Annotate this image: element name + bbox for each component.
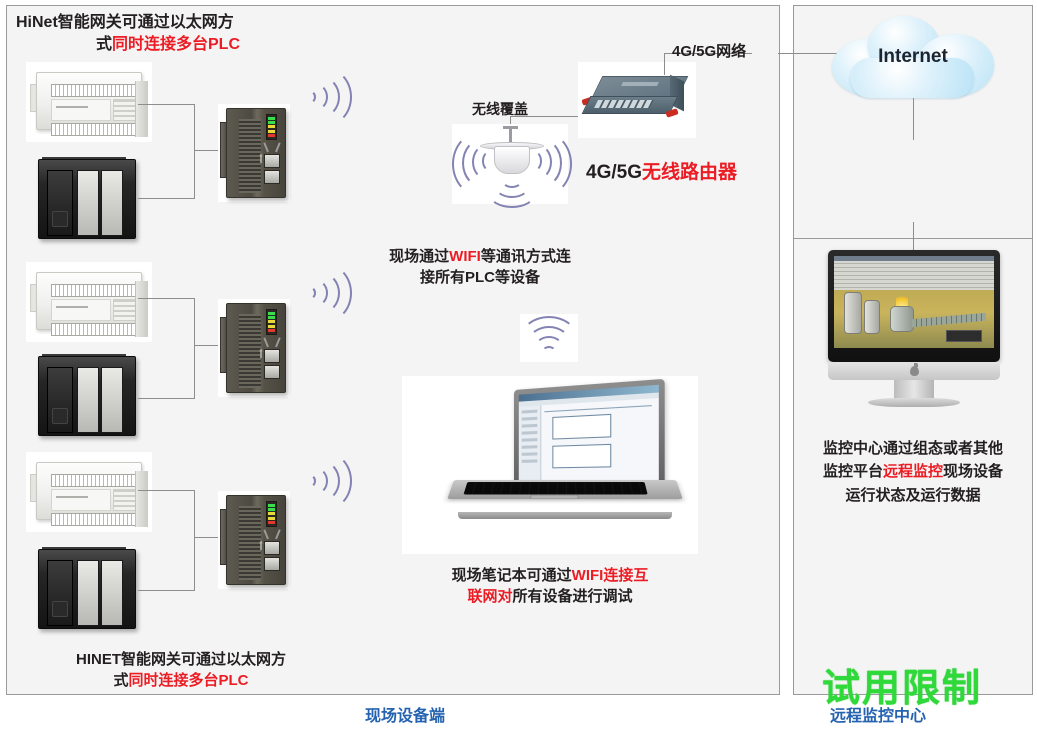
gateway-status-leds: [266, 501, 277, 527]
plc-top-terminal-block: [51, 84, 139, 97]
wire-bus-3: [194, 490, 195, 591]
plc-white-3: [30, 454, 146, 526]
plc-io-card: [101, 560, 123, 626]
plc-status-leds: [113, 99, 137, 121]
wire-plc-black-1: [138, 198, 194, 199]
plc-black-2: [34, 352, 138, 438]
diagram-canvas: HiNet智能网关可通过以太网方 式同时连接多台PLC: [0, 0, 1037, 731]
access-point: [452, 124, 568, 204]
gateway-shell: [226, 495, 286, 585]
remote-note-line2-suffix: 现场设备: [943, 463, 1003, 480]
scada-tank: [864, 300, 880, 334]
monitor-bezel: [828, 250, 1000, 362]
plc-label-area: [51, 489, 111, 511]
gateway-status-leds: [266, 309, 277, 335]
internet-cloud: Internet: [824, 12, 1002, 100]
plc-io-card: [77, 560, 99, 626]
caption-bottom-line1: HINET智能网关可通过以太网方: [76, 651, 286, 668]
monitor-screen: [834, 256, 994, 348]
caption-bottom-gateway: HINET智能网关可通过以太网方 式同时连接多台PLC: [16, 650, 346, 691]
laptop-note-red-2: 联网对: [467, 588, 512, 605]
wire-plc-black-2: [138, 398, 194, 399]
wire-bus-2: [194, 298, 195, 399]
monitor-neck: [894, 380, 934, 400]
ap-signal-arc-down: [488, 178, 536, 208]
gateway-ethernet-port-1: [264, 349, 280, 363]
scada-tank: [844, 292, 862, 334]
wifi-note-line2: 接所有PLC等设备: [420, 269, 540, 286]
wire-plc-white-1: [138, 104, 194, 105]
leader-ap-to-router: [510, 116, 582, 117]
laptop-note-suffix: 所有设备进行调试: [513, 588, 633, 605]
laptop-note-red-1: WIFI连接互: [572, 567, 649, 584]
gateway-vents: [239, 314, 261, 388]
plc-io-card: [77, 170, 99, 236]
caption-laptop-debug: 现场笔记本可通过WIFI连接互 联网对所有设备进行调试: [400, 566, 700, 607]
wire-plc-black-3: [138, 590, 194, 591]
gateway-ethernet-port-2: [264, 557, 280, 571]
plc-top-terminal-block: [51, 474, 139, 487]
gateway-shell: [226, 303, 286, 393]
laptop-app-sidebar: [519, 405, 542, 487]
wire-bus-1: [194, 104, 195, 199]
laptop-front-edge: [458, 512, 672, 519]
remote-note-line3: 运行状态及运行数据: [845, 487, 980, 504]
router-ethernet-ports: [594, 100, 654, 108]
gateway-ethernet-port-2: [264, 365, 280, 379]
plc-bottom-terminal-block: [51, 323, 139, 336]
scada-readout-box: [946, 330, 982, 342]
plc-bottom-terminal-block: [51, 513, 139, 526]
laptop-screen: [519, 385, 659, 487]
plc-bottom-terminal-block: [51, 123, 139, 136]
laptop-note-prefix: 现场笔记本可通过: [452, 567, 572, 584]
plc-io-card: [101, 367, 123, 433]
plc-cpu-module: [47, 367, 73, 433]
ladder-rung: [552, 444, 611, 469]
router-brand-label: [621, 82, 659, 86]
gateway-ethernet-port-1: [264, 154, 280, 168]
plc-cpu-module: [47, 560, 73, 626]
laptop-lid: [514, 379, 665, 492]
remote-note-line1: 监控中心通过组态或者其他: [823, 440, 1003, 457]
caption-top-line2-red: 同时连接多台PLC: [112, 36, 240, 53]
scada-table-area: [834, 256, 994, 290]
gateway-vents: [239, 119, 261, 193]
zone-label-field: 现场设备端: [365, 702, 445, 726]
wire-plc-white-2: [138, 298, 194, 299]
link-divider-to-monitor: [913, 222, 914, 252]
plc-body: [36, 272, 142, 330]
caption-remote-monitoring: 监控中心通过组态或者其他 监控平台远程监控现场设备 运行状态及运行数据: [798, 437, 1028, 507]
ladder-rung: [552, 414, 611, 440]
gateway-status-leds: [266, 114, 277, 140]
gateway-vents: [239, 506, 261, 580]
caption-top-gateway: HiNet智能网关可通过以太网方 式同时连接多台PLC: [16, 12, 346, 56]
label-internet: Internet: [824, 46, 1002, 68]
plc-label-area: [51, 299, 111, 321]
scada-vessel: [890, 306, 914, 332]
wifi-note-red: WIFI: [449, 248, 481, 265]
monitor-imac: [828, 250, 1000, 410]
caption-wifi-connection: 现场通过WIFI等通讯方式连 接所有PLC等设备: [355, 247, 605, 288]
apple-logo-icon: [910, 366, 919, 376]
gateway-3: [218, 491, 290, 587]
plc-body: [38, 356, 136, 436]
plc-side-cover: [135, 81, 148, 137]
laptop-keyboard: [464, 482, 648, 494]
wifi-signal-icon-1: [300, 66, 348, 128]
gateway-antenna-icon: [264, 337, 280, 347]
plc-label-area: [51, 99, 111, 121]
caption-top-line2-prefix: 式: [96, 36, 112, 53]
gateway-antenna-icon: [264, 529, 280, 539]
label-router-red: 无线路由器: [642, 162, 737, 183]
plc-body: [38, 159, 136, 239]
wireless-router: [578, 62, 696, 138]
plc-io-card: [101, 170, 123, 236]
laptop-base: [447, 480, 683, 499]
gateway-2: [218, 299, 290, 395]
gateway-ethernet-port-1: [264, 541, 280, 555]
leader-router-vertical: [664, 53, 665, 75]
wifi-signal-icon-2: [300, 262, 348, 324]
plc-white-2: [30, 264, 146, 336]
caption-bottom-line2-prefix: 式: [113, 672, 128, 689]
monitor-foot: [868, 398, 960, 407]
laptop-touchpad: [530, 495, 579, 499]
plc-cpu-module: [47, 170, 73, 236]
plc-side-cover: [135, 471, 148, 527]
plc-black-3: [34, 545, 138, 631]
plc-io-card: [77, 367, 99, 433]
gateway-antenna-icon: [264, 142, 280, 152]
link-cloud-to-monitor: [913, 98, 914, 140]
plc-white-1: [30, 64, 146, 136]
remote-note-line2-prefix: 监控平台: [823, 463, 883, 480]
gateway-ethernet-port-2: [264, 170, 280, 184]
trial-watermark: 试用限制: [822, 657, 982, 712]
gateway-1: [218, 104, 290, 200]
wifi-note-prefix: 现场通过: [389, 248, 449, 265]
caption-top-line1: HiNet智能网关可通过以太网方: [16, 14, 234, 31]
plc-body: [36, 462, 142, 520]
gateway-shell: [226, 108, 286, 198]
wifi-signal-icon-3: [300, 450, 348, 512]
remote-note-line2-red: 远程监控: [883, 463, 943, 480]
label-router-black: 4G/5G: [586, 162, 642, 183]
wifi-signal-icon-center: [521, 316, 577, 360]
wire-plc-white-3: [138, 490, 194, 491]
wifi-note-suffix: 等通讯方式连: [481, 248, 571, 265]
plc-top-terminal-block: [51, 284, 139, 297]
plc-side-cover: [135, 281, 148, 337]
plc-status-leds: [113, 299, 137, 321]
ladder-rail: [544, 405, 652, 412]
scada-conveyor: [912, 313, 986, 327]
label-4g5g-network: 4G/5G网络: [672, 42, 746, 63]
plc-status-leds: [113, 489, 137, 511]
laptop-computer: [402, 376, 698, 554]
label-router: 4G/5G无线路由器: [586, 160, 737, 186]
plc-black-1: [34, 155, 138, 241]
caption-bottom-line2-red: 同时连接多台PLC: [129, 672, 249, 689]
plc-body: [36, 72, 142, 130]
plc-body: [38, 549, 136, 629]
